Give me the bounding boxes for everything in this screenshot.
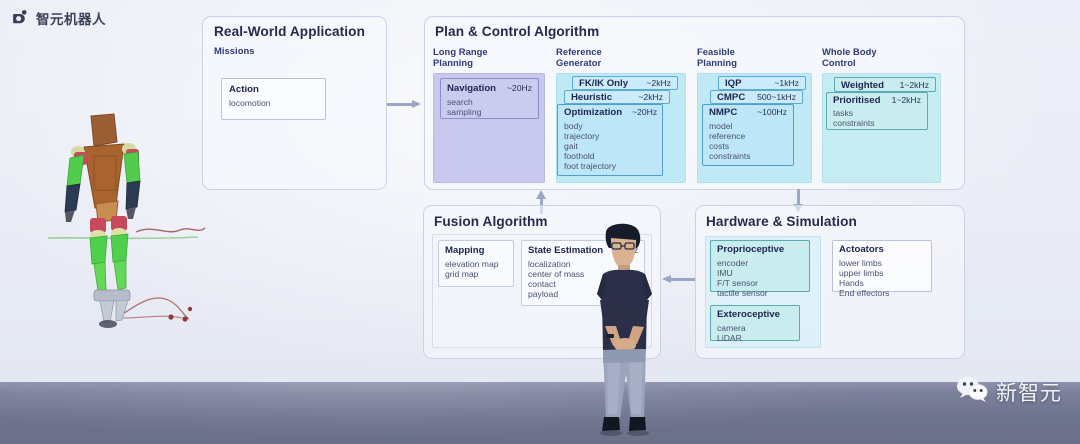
label-line-1: Long Range xyxy=(433,46,488,57)
card-mapping-items: elevation map grid map xyxy=(445,259,507,279)
card-navigation-title: Navigation xyxy=(447,83,496,94)
card-mapping-header: Mapping xyxy=(445,245,507,256)
card-proprioceptive-items: encoder IMU F/T sensor tactile sensor xyxy=(717,258,803,299)
card-cmpc-header: CMPC 500~1kHz xyxy=(717,92,796,103)
arrow-app-to-plan xyxy=(387,100,423,109)
card-cmpc-title: CMPC xyxy=(717,92,745,103)
card-fk-ik-only-freq: ~2kHz xyxy=(636,78,671,88)
card-item: foothold xyxy=(564,151,656,161)
card-action: Action locomotion xyxy=(221,78,326,120)
card-item: tactile sensor xyxy=(717,288,803,298)
card-heuristic-header: Heuristic ~2kHz xyxy=(571,92,663,103)
card-optimization: Optimization ~20Hz body trajectory gait … xyxy=(557,104,663,176)
card-mapping: Mapping elevation map grid map xyxy=(438,240,514,287)
card-item: model xyxy=(709,121,787,131)
card-heuristic: Heuristic ~2kHz xyxy=(564,90,670,104)
card-nmpc-items: model reference costs constraints xyxy=(709,121,787,162)
card-item: encoder xyxy=(717,258,803,268)
screenshot-root: 智元机器人 Real-World Application Missions Ac… xyxy=(0,0,1080,444)
floor-light-sheen xyxy=(0,382,1080,444)
card-prioritised-freq: 1~2kHz xyxy=(882,95,921,105)
card-iqp-freq: ~1kHz xyxy=(764,78,799,88)
card-exteroceptive: Exteroceptive camera LiDAR xyxy=(710,305,800,341)
card-optimization-items: body trajectory gait foothold foot traje… xyxy=(564,121,656,172)
card-actoators-title: Actoators xyxy=(839,244,884,255)
card-cmpc-freq: 500~1kHz xyxy=(747,92,796,102)
card-fk-ik-only: FK/IK Only ~2kHz xyxy=(572,76,678,90)
card-actoators-items: lower limbs upper limbs Hands End effect… xyxy=(839,258,925,299)
label-line-1: Reference xyxy=(556,46,602,57)
panel-title-fusion-algorithm: Fusion Algorithm xyxy=(434,214,548,229)
card-item: sampling xyxy=(447,107,532,117)
card-optimization-header: Optimization ~20Hz xyxy=(564,107,656,118)
card-proprioceptive-header: Proprioceptive xyxy=(717,244,803,255)
sub-label-missions: Missions xyxy=(214,45,255,56)
watermark-text: 新智元 xyxy=(996,377,1062,407)
card-item: LiDAR xyxy=(717,333,793,343)
card-action-item: locomotion xyxy=(229,98,318,108)
card-action-items: locomotion xyxy=(229,98,318,108)
card-proprioceptive-title: Proprioceptive xyxy=(717,244,784,255)
card-navigation-header: Navigation ~20Hz xyxy=(447,83,532,94)
card-actoators: Actoators lower limbs upper limbs Hands … xyxy=(832,240,932,292)
card-nmpc-title: NMPC xyxy=(709,107,737,118)
simulated-humanoid-robot xyxy=(48,104,208,344)
card-navigation: Navigation ~20Hz search sampling xyxy=(440,78,539,119)
card-item: elevation map xyxy=(445,259,507,269)
card-nmpc: NMPC ~100Hz model reference costs constr… xyxy=(702,104,794,166)
card-item: search xyxy=(447,97,532,107)
card-item: camera xyxy=(717,323,793,333)
card-nmpc-freq: ~100Hz xyxy=(747,107,787,117)
card-item: costs xyxy=(709,141,787,151)
card-iqp: IQP ~1kHz xyxy=(718,76,806,90)
label-line-1: Whole Body xyxy=(822,46,877,57)
card-action-header: Action xyxy=(229,84,318,95)
card-navigation-freq: ~20Hz xyxy=(497,83,532,93)
sub-label-long-range-planning: Long Range Planning xyxy=(433,46,488,69)
card-prioritised: Prioritised 1~2kHz tasks constraints xyxy=(826,92,928,130)
card-item: End effectors xyxy=(839,288,925,298)
card-item: gait xyxy=(564,141,656,151)
card-proprioceptive: Proprioceptive encoder IMU F/T sensor ta… xyxy=(710,240,810,292)
sub-label-reference-generator: Reference Generator xyxy=(556,46,602,69)
card-item: lower limbs xyxy=(839,258,925,268)
card-weighted-header: Weighted 1~2kHz xyxy=(841,80,929,91)
card-exteroceptive-header: Exteroceptive xyxy=(717,309,793,320)
card-item: body xyxy=(564,121,656,131)
card-prioritised-header: Prioritised 1~2kHz xyxy=(833,95,921,106)
sub-label-feasible-planning: Feasible Planning xyxy=(697,46,737,69)
card-item: tasks xyxy=(833,108,921,118)
panel-title-plan-control-algorithm: Plan & Control Algorithm xyxy=(435,24,599,39)
channel-watermark: 新智元 xyxy=(956,376,1062,408)
card-fk-ik-only-title: FK/IK Only xyxy=(579,78,628,89)
card-actoators-header: Actoators xyxy=(839,244,925,255)
panel-title-hardware-simulation: Hardware & Simulation xyxy=(706,214,857,229)
sub-label-whole-body-control: Whole Body Control xyxy=(822,46,877,69)
card-iqp-header: IQP ~1kHz xyxy=(725,78,799,89)
card-optimization-title: Optimization xyxy=(564,107,622,118)
label-line-2: Planning xyxy=(433,57,488,68)
label-line-2: Generator xyxy=(556,57,602,68)
card-navigation-items: search sampling xyxy=(447,97,532,117)
panel-title-real-world-application: Real-World Application xyxy=(214,24,365,39)
card-iqp-title: IQP xyxy=(725,78,742,89)
label-line-2: Control xyxy=(822,57,877,68)
card-nmpc-header: NMPC ~100Hz xyxy=(709,107,787,118)
card-item: constraints xyxy=(709,151,787,161)
label-line-1: Feasible xyxy=(697,46,737,57)
card-prioritised-title: Prioritised xyxy=(833,95,880,106)
card-item: trajectory xyxy=(564,131,656,141)
card-item: Hands xyxy=(839,278,925,288)
card-action-title: Action xyxy=(229,84,259,95)
card-optimization-freq: ~20Hz xyxy=(622,107,657,117)
card-item: foot trajectory xyxy=(564,161,656,171)
card-item: F/T sensor xyxy=(717,278,803,288)
card-heuristic-freq: ~2kHz xyxy=(628,92,663,102)
card-weighted: Weighted 1~2kHz xyxy=(834,77,936,92)
card-weighted-freq: 1~2kHz xyxy=(890,80,929,90)
card-heuristic-title: Heuristic xyxy=(571,92,612,103)
card-item: reference xyxy=(709,131,787,141)
card-item: upper limbs xyxy=(839,268,925,278)
card-prioritised-items: tasks constraints xyxy=(833,108,921,128)
card-fk-ik-only-header: FK/IK Only ~2kHz xyxy=(579,78,671,89)
card-weighted-title: Weighted xyxy=(841,80,884,91)
card-exteroceptive-items: camera LiDAR xyxy=(717,323,793,343)
card-cmpc: CMPC 500~1kHz xyxy=(710,90,803,104)
card-mapping-title: Mapping xyxy=(445,245,484,256)
card-item: grid map xyxy=(445,269,507,279)
card-item: constraints xyxy=(833,118,921,128)
wechat-icon xyxy=(956,376,988,408)
card-item: IMU xyxy=(717,268,803,278)
card-exteroceptive-title: Exteroceptive xyxy=(717,309,780,320)
presenter-person xyxy=(573,222,677,444)
label-line-2: Planning xyxy=(697,57,737,68)
